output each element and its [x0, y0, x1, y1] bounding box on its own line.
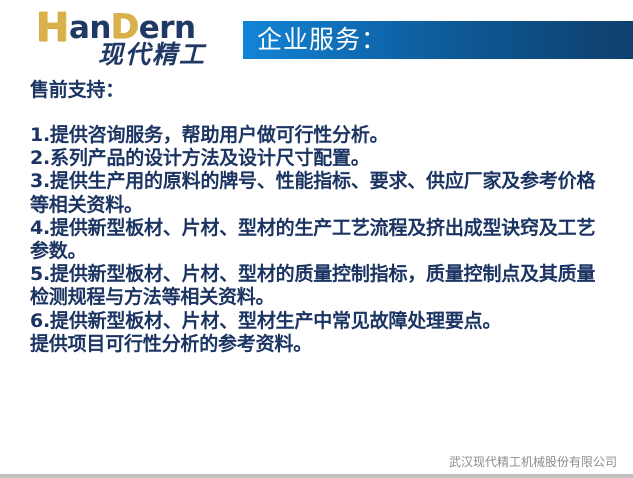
company-logo: HanDern 现代精工: [36, 8, 236, 68]
slide-body: 售前支持： 1.提供咨询服务，帮助用户做可行性分析。 2.系列产品的设计方法及设…: [30, 78, 610, 356]
body-item-6: 6.提供新型板材、片材、型材生产中常见故障处理要点。: [30, 310, 610, 333]
body-item-5: 5.提供新型板材、片材、型材的质量控制指标，质量控制点及其质量检测规程与方法等相…: [30, 263, 610, 309]
logo-chinese-name: 现代精工: [98, 38, 248, 72]
body-item-2: 2.系列产品的设计方法及设计尺寸配置。: [30, 147, 610, 170]
body-closing-line: 提供项目可行性分析的参考资料。: [30, 333, 610, 356]
footer-company-name: 武汉现代精工机械股份有限公司: [449, 452, 617, 472]
body-item-1: 1.提供咨询服务，帮助用户做可行性分析。: [30, 124, 610, 147]
body-spacer: [30, 102, 610, 124]
body-item-4: 4.提供新型板材、片材、型材的生产工艺流程及挤出成型诀窍及工艺参数。: [30, 217, 610, 263]
logo-letter-h: H: [36, 5, 69, 51]
slide-header: HanDern 现代精工 企业服务：: [0, 0, 633, 74]
slide-title: 企业服务：: [257, 22, 387, 58]
body-item-3: 3.提供生产用的原料的牌号、性能指标、要求、供应厂家及参考价格等相关资料。: [30, 170, 610, 216]
title-banner: 企业服务：: [243, 21, 633, 59]
body-lead-line: 售前支持：: [30, 78, 610, 102]
slide-footer: 武汉现代精工机械股份有限公司: [0, 452, 633, 474]
presentation-slide: HanDern 现代精工 企业服务： 售前支持： 1.提供咨询服务，帮助用户做可…: [0, 0, 633, 478]
logo-wordmark: HanDern: [36, 8, 236, 42]
footer-divider: [0, 474, 633, 478]
